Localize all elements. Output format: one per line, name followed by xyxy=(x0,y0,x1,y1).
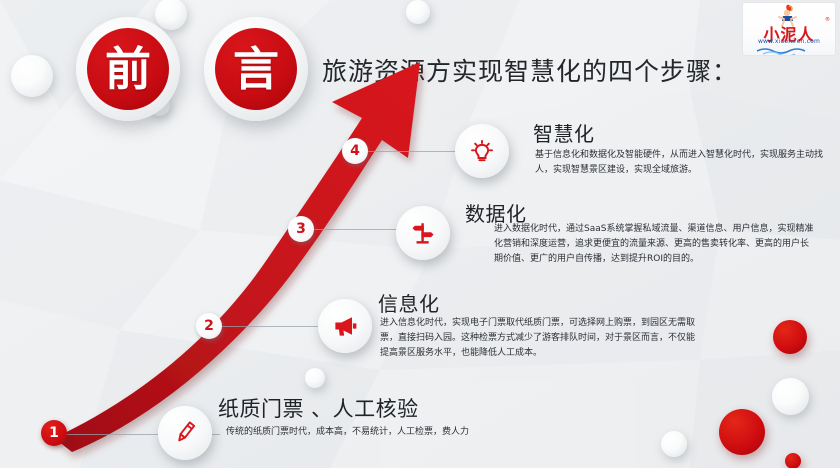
step-number-label: 3 xyxy=(296,222,306,236)
brand-logo[interactable]: 小泥人 ® www.xiaoniren.com xyxy=(742,2,836,56)
lead-badge-char: 前 xyxy=(87,28,169,110)
step-number-badge-2[interactable]: 2 xyxy=(196,313,222,339)
connector-line-3 xyxy=(300,229,410,230)
lightbulb-icon xyxy=(468,137,496,165)
step-number-label: 2 xyxy=(204,319,214,333)
step-heading-4: 智慧化 xyxy=(533,118,595,147)
step-icon-circle-1[interactable] xyxy=(158,406,212,460)
signpost-icon xyxy=(410,220,436,246)
step-number-label: 1 xyxy=(49,426,59,440)
lead-badge-char: 言 xyxy=(215,28,297,110)
connector-line-2 xyxy=(206,326,336,327)
connector-line-4 xyxy=(358,151,468,152)
brand-url: www.xiaoniren.com xyxy=(743,38,835,45)
step-number-badge-1[interactable]: 1 xyxy=(41,420,67,446)
step-heading-1: 纸质门票 、人工核验 xyxy=(218,393,419,423)
step-body-2: 进入信息化时代，实现电子门票取代纸质门票，可选择网上购票，到园区无需取票，直接扫… xyxy=(380,316,702,361)
wave-icon xyxy=(743,45,835,55)
decor-sphere-white xyxy=(661,431,687,457)
megaphone-icon xyxy=(331,312,359,340)
decor-sphere-red xyxy=(785,453,801,468)
lead-badge-1: 前 xyxy=(76,17,180,121)
page-title: 旅游资源方实现智慧化的四个步骤： xyxy=(322,52,738,88)
step-icon-circle-3[interactable] xyxy=(396,206,450,260)
decor-sphere-red xyxy=(719,409,765,455)
decor-sphere-white xyxy=(406,0,430,24)
step-body-1: 传统的纸质门票时代，成本高，不易统计，人工检票，费人力 xyxy=(226,425,526,440)
decor-sphere-white xyxy=(772,378,809,415)
pencil-icon xyxy=(170,418,200,448)
step-body-4: 基于信息化和数据化及智能硬件，从而进入智慧化时代，实现服务主动找人，实现智慧景区… xyxy=(535,148,835,178)
step-number-label: 4 xyxy=(350,144,360,158)
slide-canvas: 前 言 旅游资源方实现智慧化的四个步骤： 1 xyxy=(0,0,840,468)
step-icon-circle-4[interactable] xyxy=(455,124,509,178)
step-icon-circle-2[interactable] xyxy=(318,299,372,353)
lead-badge-2: 言 xyxy=(204,17,308,121)
step-number-badge-4[interactable]: 4 xyxy=(342,138,368,164)
registered-mark: ® xyxy=(825,17,830,23)
step-heading-2: 信息化 xyxy=(378,288,440,317)
step-number-badge-3[interactable]: 3 xyxy=(288,216,314,242)
decor-sphere-white xyxy=(11,55,53,97)
decor-sphere-red xyxy=(773,320,807,354)
decor-sphere-white xyxy=(305,368,325,388)
step-body-3: 进入数据化时代，通过SaaS系统掌握私域流量、渠道信息、用户信息，实现精准化营销… xyxy=(494,222,816,267)
